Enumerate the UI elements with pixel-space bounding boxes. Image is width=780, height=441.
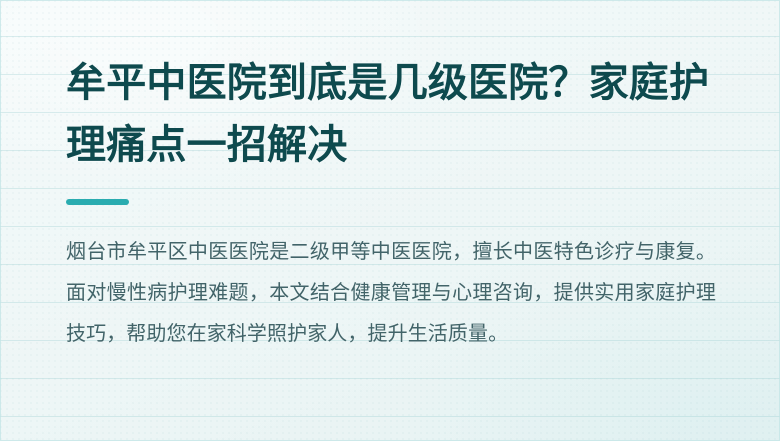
article-hero-card: 牟平中医院到底是几级医院？家庭护理痛点一招解决 烟台市牟平区中医医院是二级甲等中… [0, 0, 780, 441]
content-column: 牟平中医院到底是几级医院？家庭护理痛点一招解决 烟台市牟平区中医医院是二级甲等中… [66, 0, 716, 441]
accent-divider [66, 199, 129, 205]
article-summary: 烟台市牟平区中医医院是二级甲等中医医院，擅长中医特色诊疗与康复。面对慢性病护理难… [66, 232, 716, 355]
page-title: 牟平中医院到底是几级医院？家庭护理痛点一招解决 [66, 52, 714, 176]
